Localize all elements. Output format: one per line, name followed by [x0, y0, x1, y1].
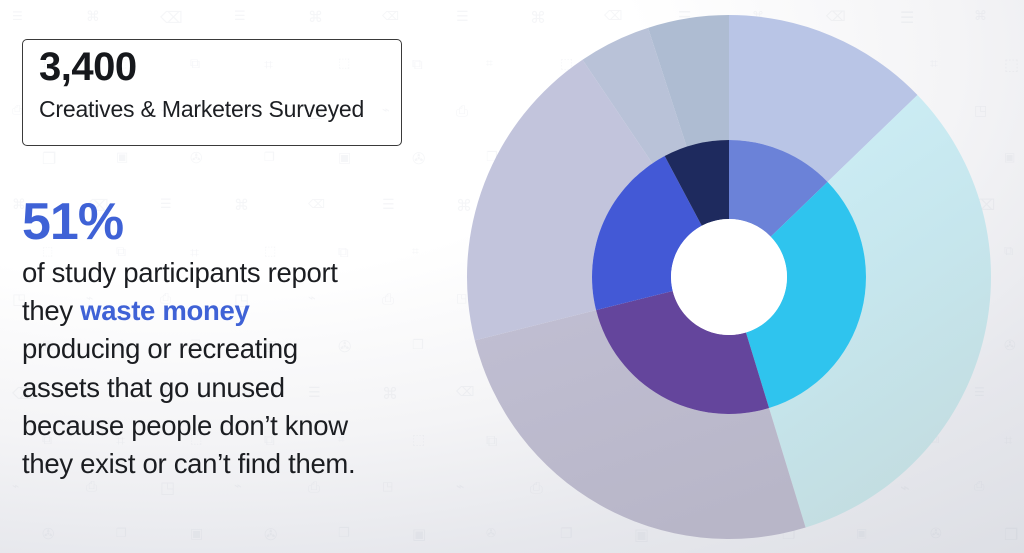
statistic-line-2-prefix: they [22, 295, 80, 326]
statistic-line-1: of study participants report [22, 257, 338, 288]
statistic-line-6: they exist or can’t find them. [22, 448, 355, 479]
statistic-line-3: producing or recreating [22, 333, 298, 364]
survey-count-value: 3,400 [39, 45, 137, 90]
survey-count-caption: Creatives & Marketers Surveyed [39, 96, 364, 123]
donut-center-hole [671, 219, 787, 335]
key-statistic-block: 51% of study participants report they wa… [22, 196, 432, 483]
statistic-line-4: assets that go unused [22, 372, 285, 403]
nested-donut-chart [460, 0, 1024, 553]
statistic-description: of study participants report they waste … [22, 254, 432, 483]
survey-stat-card: 3,400 Creatives & Marketers Surveyed [22, 39, 402, 146]
statistic-percentage: 51% [22, 196, 432, 248]
left-content-column: 3,400 Creatives & Marketers Surveyed 51%… [0, 0, 450, 553]
statistic-line-5: because people don’t know [22, 410, 348, 441]
infographic-slide: ☰⌘⌫☰⌘⌫☰⌘⌫☰⌘⌫☰⌘⌗⬚⧉⌗⬚⧉⌗⬚⧉⌗⬚⧉⌗⬚⎙◳⌁⎙◳⌁⎙◳⌁⎙◳⌁… [0, 0, 1024, 553]
nested-donut-chart-container [460, 0, 1024, 553]
statistic-highlight-phrase: waste money [80, 295, 249, 326]
